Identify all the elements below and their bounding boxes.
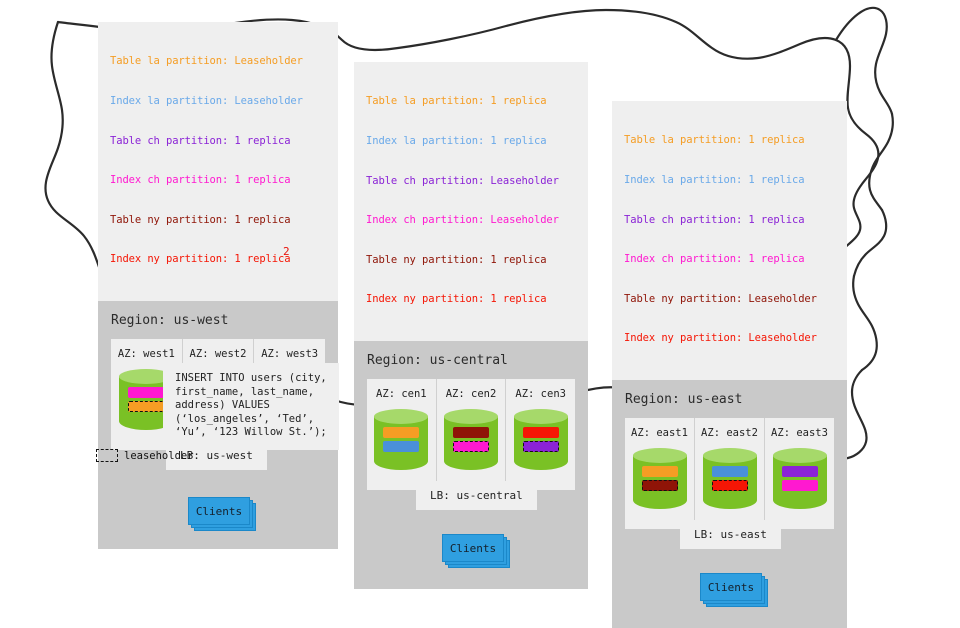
region-cluster-us-central: Table la partition: 1 replica Index la p… (354, 62, 588, 589)
legend-row: Index ny partition: Leaseholder (624, 332, 837, 345)
database-cylinder (514, 409, 568, 477)
az-cell-cen2[interactable]: AZ: cen2 (436, 379, 506, 490)
clients-label: Clients (188, 497, 250, 525)
sql-statement-callout: INSERT INTO users (city, first_name, las… (163, 363, 339, 450)
replica-bar (642, 466, 678, 477)
legend-row: Table la partition: 1 replica (624, 134, 837, 147)
replica-bar (128, 387, 164, 398)
az-cell-east2[interactable]: AZ: east2 (694, 418, 764, 529)
legend-row: Index ch partition: 1 replica (624, 253, 837, 266)
legend-row: Table la partition: Leaseholder (110, 55, 328, 68)
az-strip-us-east: AZ: east1 AZ: east2 (625, 418, 834, 529)
az-label: AZ: east1 (625, 427, 694, 439)
clients-us-west[interactable]: Clients (188, 497, 248, 523)
replica-bar (128, 401, 164, 412)
az-label: AZ: cen1 (367, 388, 436, 400)
region-title: Region: us-central (354, 341, 588, 379)
replica-bar (383, 427, 419, 438)
partition-legend-us-central: Table la partition: 1 replica Index la p… (354, 62, 588, 341)
leaseholder-key-label: leaseholder (124, 450, 194, 462)
region-title: Region: us-east (612, 380, 847, 418)
step-number-2: 2 (283, 245, 290, 258)
az-label: AZ: cen2 (437, 388, 506, 400)
az-label: AZ: west1 (111, 348, 182, 360)
legend-row: Table ny partition: 1 replica (110, 214, 328, 227)
database-cylinder (703, 448, 757, 516)
legend-row: Index ny partition: 1 replica (110, 253, 328, 266)
az-cell-cen3[interactable]: AZ: cen3 (505, 379, 575, 490)
region-title: Region: us-west (98, 301, 338, 339)
replica-bar (523, 441, 559, 452)
legend-row: Index la partition: Leaseholder (110, 95, 328, 108)
replica-bar (523, 427, 559, 438)
region-panel-us-east: Region: us-east AZ: east1 AZ: east2 (612, 380, 847, 628)
legend-row: Table ch partition: Leaseholder (366, 175, 578, 188)
load-balancer-us-east[interactable]: LB: us-east (680, 520, 781, 549)
leaseholder-key: leaseholder (96, 449, 194, 462)
legend-row: Table ch partition: 1 replica (624, 214, 837, 227)
load-balancer-us-central[interactable]: LB: us-central (416, 481, 537, 510)
region-cluster-us-west: Table la partition: Leaseholder Index la… (98, 22, 338, 549)
az-label: AZ: west3 (254, 348, 325, 360)
legend-row: Table la partition: 1 replica (366, 95, 578, 108)
partition-legend-us-west: Table la partition: Leaseholder Index la… (98, 22, 338, 301)
partition-legend-us-east: Table la partition: 1 replica Index la p… (612, 101, 847, 380)
replica-bar (453, 427, 489, 438)
az-strip-us-central: AZ: cen1 AZ: cen2 (367, 379, 575, 490)
legend-row: Index ny partition: 1 replica (366, 293, 578, 306)
replica-bar (712, 466, 748, 477)
legend-row: Table ny partition: 1 replica (366, 254, 578, 267)
region-panel-us-central: Region: us-central AZ: cen1 AZ: cen2 (354, 341, 588, 589)
leaseholder-swatch-icon (96, 449, 118, 462)
diagram-canvas: Table la partition: Leaseholder Index la… (0, 0, 960, 540)
database-cylinder (773, 448, 827, 516)
legend-row: Index ch partition: Leaseholder (366, 214, 578, 227)
clients-label: Clients (442, 534, 504, 562)
az-label: AZ: east3 (765, 427, 834, 439)
az-cell-east1[interactable]: AZ: east1 (625, 418, 694, 529)
replica-bar (383, 441, 419, 452)
legend-row: Index ch partition: 1 replica (110, 174, 328, 187)
database-cylinder (374, 409, 428, 477)
az-label: AZ: east2 (695, 427, 764, 439)
az-label: AZ: cen3 (506, 388, 575, 400)
database-cylinder (444, 409, 498, 477)
az-label: AZ: west2 (183, 348, 254, 360)
clients-us-east[interactable]: Clients (700, 573, 760, 599)
replica-bar (782, 466, 818, 477)
replica-bar (712, 480, 748, 491)
replica-bar (642, 480, 678, 491)
legend-row: Index la partition: 1 replica (624, 174, 837, 187)
legend-row: Index la partition: 1 replica (366, 135, 578, 148)
az-cell-cen1[interactable]: AZ: cen1 (367, 379, 436, 490)
legend-row: Table ch partition: 1 replica (110, 135, 328, 148)
clients-label: Clients (700, 573, 762, 601)
region-cluster-us-east: Table la partition: 1 replica Index la p… (612, 101, 847, 628)
replica-bar (782, 480, 818, 491)
az-cell-east3[interactable]: AZ: east3 (764, 418, 834, 529)
replica-bar (453, 441, 489, 452)
legend-row: Table ny partition: Leaseholder (624, 293, 837, 306)
database-cylinder (633, 448, 687, 516)
clients-us-central[interactable]: Clients (442, 534, 502, 560)
